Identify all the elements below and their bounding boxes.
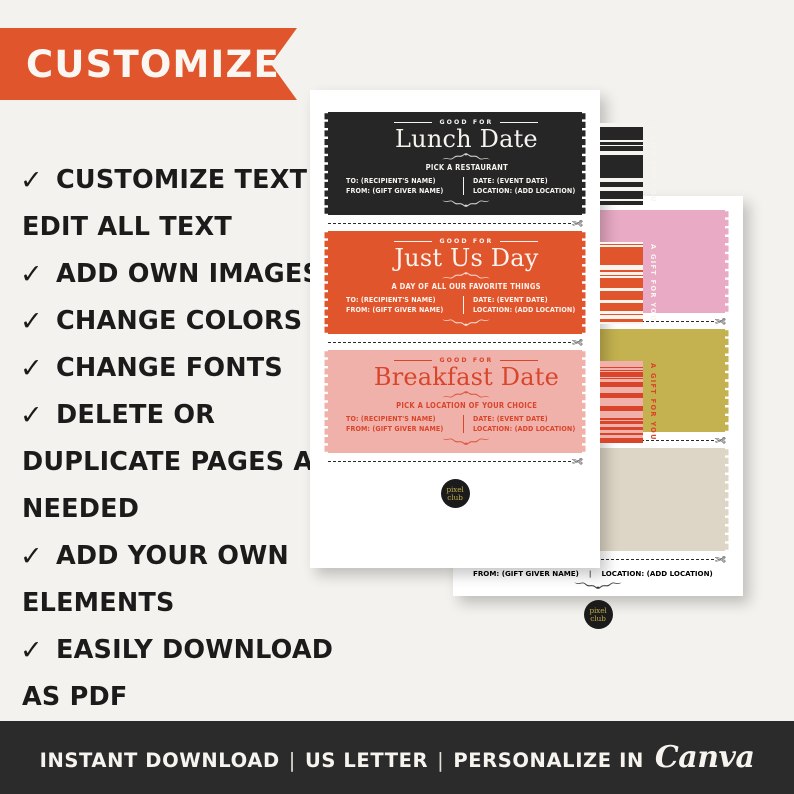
- ticket-scallop-right[interactable]: [579, 350, 586, 453]
- rule-left[interactable]: [394, 241, 432, 242]
- ticket-just-us-day[interactable]: GOOD FORJust Us DayA DAY OF ALL OUR FAVO…: [324, 231, 586, 334]
- rule-left[interactable]: [394, 360, 432, 361]
- scissors-icon[interactable]: ✄: [715, 315, 726, 328]
- ticket-location-label[interactable]: LOCATION: (ADD LOCATION): [473, 424, 575, 434]
- feature-item[interactable]: ✓CHANGE FONTS: [18, 345, 318, 392]
- feature-item[interactable]: ✓ADD OWN IMAGES: [18, 251, 318, 298]
- ticket-fields[interactable]: TO: (RECIPIENT'S NAME)FROM: (GIFT GIVER …: [346, 176, 587, 196]
- ornament-top[interactable]: [439, 152, 493, 161]
- feature-item[interactable]: NEEDED: [18, 486, 318, 533]
- ornament-bottom[interactable]: [439, 437, 493, 446]
- feature-item[interactable]: ✓CUSTOMIZE TEXT: [18, 157, 318, 204]
- check-icon[interactable]: ✓: [18, 533, 56, 580]
- feature-item-label[interactable]: DELETE OR: [56, 392, 215, 439]
- feature-item[interactable]: EDIT ALL TEXT: [18, 204, 318, 251]
- ticket-title[interactable]: Breakfast Date: [374, 365, 559, 391]
- back-ticket-scallop-right[interactable]: [722, 329, 729, 432]
- scissors-icon[interactable]: ✄: [572, 455, 583, 468]
- cut-line[interactable]: ✄: [324, 334, 586, 350]
- ticket-lunch-date[interactable]: GOOD FORLunch DatePICK A RESTAURANTTO: (…: [324, 112, 586, 215]
- bottom-part-instant-download: INSTANT DOWNLOAD: [40, 749, 280, 772]
- rule-right[interactable]: [500, 360, 538, 361]
- feature-item-label[interactable]: ADD YOUR OWN: [56, 533, 289, 580]
- check-icon[interactable]: ✓: [18, 298, 56, 345]
- feature-item-label[interactable]: CUSTOMIZE TEXT: [56, 157, 307, 204]
- back-location-label[interactable]: LOCATION: (ADD LOCATION): [601, 569, 712, 579]
- ticket-event-column[interactable]: DATE: (EVENT DATE)LOCATION: (ADD LOCATIO…: [473, 295, 575, 315]
- pixel-club-logo[interactable]: pixelclub: [441, 479, 470, 508]
- check-icon[interactable]: ✓: [18, 392, 56, 439]
- ticket-stub[interactable]: A GIFT FOR YOU: [595, 112, 657, 215]
- bottom-info-bar: INSTANT DOWNLOAD | US LETTER | PERSONALI…: [0, 721, 794, 794]
- feature-item[interactable]: AS PDF: [18, 674, 318, 721]
- check-icon[interactable]: ✓: [18, 627, 56, 674]
- feature-list: ✓CUSTOMIZE TEXTEDIT ALL TEXT✓ADD OWN IMA…: [18, 157, 318, 768]
- ornament-bottom[interactable]: [439, 199, 493, 208]
- barcode-icon[interactable]: [600, 123, 643, 205]
- ticket-title[interactable]: Just Us Day: [394, 246, 538, 272]
- ticket-recipient-column[interactable]: TO: (RECIPIENT'S NAME)FROM: (GIFT GIVER …: [346, 414, 443, 434]
- feature-item-label[interactable]: NEEDED: [22, 486, 139, 533]
- ticket-event-column[interactable]: DATE: (EVENT DATE)LOCATION: (ADD LOCATIO…: [473, 414, 575, 434]
- ticket-recipient-column[interactable]: TO: (RECIPIENT'S NAME)FROM: (GIFT GIVER …: [346, 176, 443, 196]
- feature-item[interactable]: ✓DELETE OR: [18, 392, 318, 439]
- ticket-location-label[interactable]: LOCATION: (ADD LOCATION): [473, 186, 575, 196]
- ticket-from-label[interactable]: FROM: (GIFT GIVER NAME): [346, 305, 443, 315]
- bottom-separator-2: |: [437, 749, 444, 772]
- back-from-label[interactable]: FROM: (GIFT GIVER NAME): [473, 569, 579, 579]
- ticket-fields[interactable]: TO: (RECIPIENT'S NAME)FROM: (GIFT GIVER …: [346, 295, 587, 315]
- ribbon-notch: [271, 28, 297, 100]
- back-ticket-scallop-right[interactable]: [722, 210, 729, 313]
- feature-item[interactable]: ✓CHANGE COLORS: [18, 298, 318, 345]
- feature-item-label[interactable]: CHANGE FONTS: [56, 345, 283, 392]
- feature-item-label[interactable]: DUPLICATE PAGES AS: [22, 439, 332, 486]
- back-ticket-scallop-right[interactable]: [722, 448, 729, 551]
- rule-left[interactable]: [394, 122, 432, 123]
- cut-line-dashes[interactable]: [328, 223, 571, 224]
- customize-ribbon: CUSTOMIZE!: [0, 28, 297, 100]
- ticket-date-label[interactable]: DATE: (EVENT DATE): [473, 176, 575, 186]
- scissors-icon[interactable]: ✄: [715, 553, 726, 566]
- logo-line-2[interactable]: club: [590, 615, 605, 622]
- ticket-breakfast-date[interactable]: GOOD FORBreakfast DatePICK A LOCATION OF…: [324, 350, 586, 453]
- ticket-body[interactable]: GOOD FORBreakfast DatePICK A LOCATION OF…: [324, 350, 593, 453]
- check-icon[interactable]: ✓: [18, 251, 56, 298]
- scissors-icon[interactable]: ✄: [572, 336, 583, 349]
- ticket-stub-label[interactable]: A GIFT FOR YOU: [649, 125, 657, 203]
- feature-item-label[interactable]: AS PDF: [22, 674, 127, 721]
- cut-line[interactable]: ✄: [324, 453, 586, 469]
- feature-item-label[interactable]: CHANGE COLORS: [56, 298, 302, 345]
- ticket-field-divider[interactable]: [463, 177, 464, 195]
- front-page-sheet: GOOD FORLunch DatePICK A RESTAURANTTO: (…: [310, 90, 600, 568]
- feature-item[interactable]: DUPLICATE PAGES AS: [18, 439, 318, 486]
- feature-item-label[interactable]: ELEMENTS: [22, 580, 175, 627]
- logo-line-2[interactable]: club: [447, 494, 462, 501]
- ticket-to-label[interactable]: TO: (RECIPIENT'S NAME): [346, 295, 443, 305]
- cut-line[interactable]: ✄: [324, 215, 586, 231]
- check-icon[interactable]: ✓: [18, 157, 56, 204]
- bottom-part-personalize: PERSONALIZE IN: [453, 749, 644, 772]
- ticket-to-label[interactable]: TO: (RECIPIENT'S NAME): [346, 176, 443, 186]
- rule-right[interactable]: [500, 122, 538, 123]
- ticket-subtitle[interactable]: PICK A RESTAURANT: [425, 162, 507, 172]
- ticket-scallop-right[interactable]: [579, 112, 586, 215]
- bottom-separator-1: |: [289, 749, 296, 772]
- feature-item-label[interactable]: ADD OWN IMAGES: [56, 251, 321, 298]
- ticket-surface[interactable]: GOOD FORBreakfast DatePICK A LOCATION OF…: [324, 350, 586, 453]
- feature-item-label[interactable]: EDIT ALL TEXT: [22, 204, 232, 251]
- ornament-top[interactable]: [439, 271, 493, 280]
- scissors-icon[interactable]: ✄: [715, 434, 726, 447]
- cut-line-dashes[interactable]: [328, 342, 571, 343]
- barcode-icon[interactable]: [600, 361, 643, 443]
- ticket-field-divider[interactable]: [463, 415, 464, 433]
- rule-right[interactable]: [500, 241, 538, 242]
- ticket-recipient-column[interactable]: TO: (RECIPIENT'S NAME)FROM: (GIFT GIVER …: [346, 295, 443, 315]
- front-logo-row[interactable]: pixelclub: [324, 469, 586, 508]
- ticket-title[interactable]: Lunch Date: [395, 127, 538, 153]
- pixel-club-logo[interactable]: pixelclub: [584, 600, 613, 629]
- ticket-body[interactable]: GOOD FORLunch DatePICK A RESTAURANTTO: (…: [324, 112, 593, 215]
- ticket-stub-label[interactable]: A GIFT FOR YOU: [649, 363, 657, 441]
- check-icon[interactable]: ✓: [18, 345, 56, 392]
- ticket-to-label[interactable]: TO: (RECIPIENT'S NAME): [346, 414, 443, 424]
- ticket-from-label[interactable]: FROM: (GIFT GIVER NAME): [346, 186, 443, 196]
- feature-item[interactable]: ✓ADD YOUR OWN: [18, 533, 318, 580]
- back-ornament[interactable]: [467, 581, 729, 590]
- ticket-date-label[interactable]: DATE: (EVENT DATE): [473, 414, 575, 424]
- ornament-top[interactable]: [439, 390, 493, 399]
- back-field-divider[interactable]: |: [589, 569, 592, 579]
- ticket-location-label[interactable]: LOCATION: (ADD LOCATION): [473, 305, 575, 315]
- ticket-scallop-right[interactable]: [579, 231, 586, 334]
- back-logo-row[interactable]: pixelclub: [467, 590, 729, 629]
- ticket-fields[interactable]: TO: (RECIPIENT'S NAME)FROM: (GIFT GIVER …: [346, 414, 587, 434]
- bottom-bar-text: INSTANT DOWNLOAD | US LETTER | PERSONALI…: [40, 740, 755, 775]
- ribbon-label: CUSTOMIZE!: [0, 46, 298, 83]
- poster-canvas: CUSTOMIZE! ✓CUSTOMIZE TEXTEDIT ALL TEXT✓…: [0, 0, 794, 794]
- barcode-icon[interactable]: [600, 242, 643, 324]
- ticket-subtitle[interactable]: A DAY OF ALL OUR FAVORITE THINGS: [392, 281, 541, 291]
- cut-line-dashes[interactable]: [328, 461, 571, 462]
- ticket-subtitle[interactable]: PICK A LOCATION OF YOUR CHOICE: [396, 400, 537, 410]
- ticket-from-label[interactable]: FROM: (GIFT GIVER NAME): [346, 424, 443, 434]
- canva-brand-wordmark: Canva: [655, 740, 755, 775]
- ticket-stub[interactable]: A GIFT FOR YOU: [595, 231, 657, 334]
- ticket-field-divider[interactable]: [463, 296, 464, 314]
- feature-item-label[interactable]: EASILY DOWNLOAD: [56, 627, 333, 674]
- back-partial-ticket-fields[interactable]: FROM: (GIFT GIVER NAME)|LOCATION: (ADD L…: [467, 569, 729, 579]
- ticket-surface[interactable]: GOOD FORJust Us DayA DAY OF ALL OUR FAVO…: [324, 231, 586, 334]
- ticket-body[interactable]: GOOD FORJust Us DayA DAY OF ALL OUR FAVO…: [324, 231, 593, 334]
- scissors-icon[interactable]: ✄: [572, 217, 583, 230]
- ticket-surface[interactable]: GOOD FORLunch DatePICK A RESTAURANTTO: (…: [324, 112, 586, 215]
- feature-item[interactable]: ELEMENTS: [18, 580, 318, 627]
- feature-item[interactable]: ✓EASILY DOWNLOAD: [18, 627, 318, 674]
- ticket-event-column[interactable]: DATE: (EVENT DATE)LOCATION: (ADD LOCATIO…: [473, 176, 575, 196]
- bottom-part-us-letter: US LETTER: [305, 749, 428, 772]
- ticket-stub-label[interactable]: A GIFT FOR YOU: [649, 244, 657, 322]
- ornament-bottom[interactable]: [439, 318, 493, 327]
- ticket-stub[interactable]: A GIFT FOR YOU: [595, 350, 657, 453]
- ticket-date-label[interactable]: DATE: (EVENT DATE): [473, 295, 575, 305]
